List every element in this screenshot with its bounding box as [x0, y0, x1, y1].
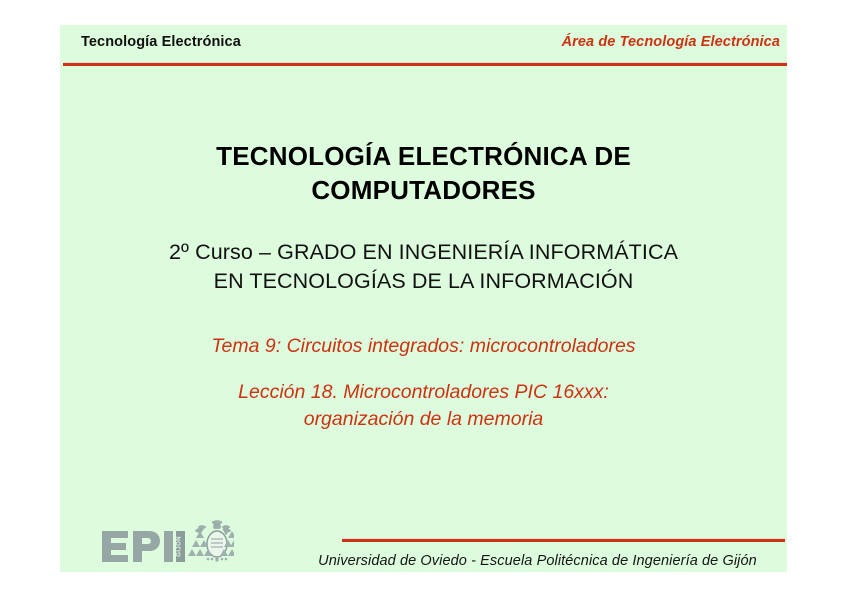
course-subtitle: 2º Curso – GRADO EN INGENIERÍA INFORMÁTI… — [60, 238, 787, 296]
header-right-title: Área de Tecnología Electrónica — [562, 34, 780, 50]
epi-wordmark — [102, 531, 173, 562]
main-title-line-1: TECNOLOGÍA ELECTRÓNICA DE — [216, 141, 631, 171]
gijon-vertical-text: GIJÓN — [175, 531, 186, 562]
page-title: TECNOLOGÍA ELECTRÓNICA DE COMPUTADORES — [60, 139, 787, 207]
footer-institution-text: Universidad de Oviedo - Escuela Politécn… — [288, 553, 787, 569]
course-subtitle-line-2: EN TECNOLOGÍAS DE LA INFORMACIÓN — [214, 269, 634, 293]
slide-canvas: Tecnología Electrónica Área de Tecnologí… — [60, 25, 787, 572]
lesson-heading: Lección 18. Microcontroladores PIC 16xxx… — [60, 379, 787, 433]
header-left-title: Tecnología Electrónica — [81, 34, 241, 50]
slide-header: Tecnología Electrónica Área de Tecnologí… — [63, 25, 784, 64]
topic-heading-text: Tema 9: Circuitos integrados: microcontr… — [211, 335, 635, 357]
main-title-line-2: COMPUTADORES — [311, 175, 535, 205]
lesson-heading-line-2: organización de la memoria — [304, 408, 544, 430]
svg-text:GIJÓN: GIJÓN — [175, 536, 183, 557]
header-divider — [63, 62, 787, 66]
epi-logo-graphic: GIJÓN — [100, 519, 234, 569]
universidad-de-oviedo-crest — [188, 521, 234, 562]
lesson-heading-line-1: Lección 18. Microcontroladores PIC 16xxx… — [238, 381, 609, 403]
epi-logo: GIJÓN — [100, 519, 234, 569]
footer-divider — [342, 538, 785, 542]
course-subtitle-line-1: 2º Curso – GRADO EN INGENIERÍA INFORMÁTI… — [169, 240, 678, 264]
topic-heading: Tema 9: Circuitos integrados: microcontr… — [60, 333, 787, 359]
